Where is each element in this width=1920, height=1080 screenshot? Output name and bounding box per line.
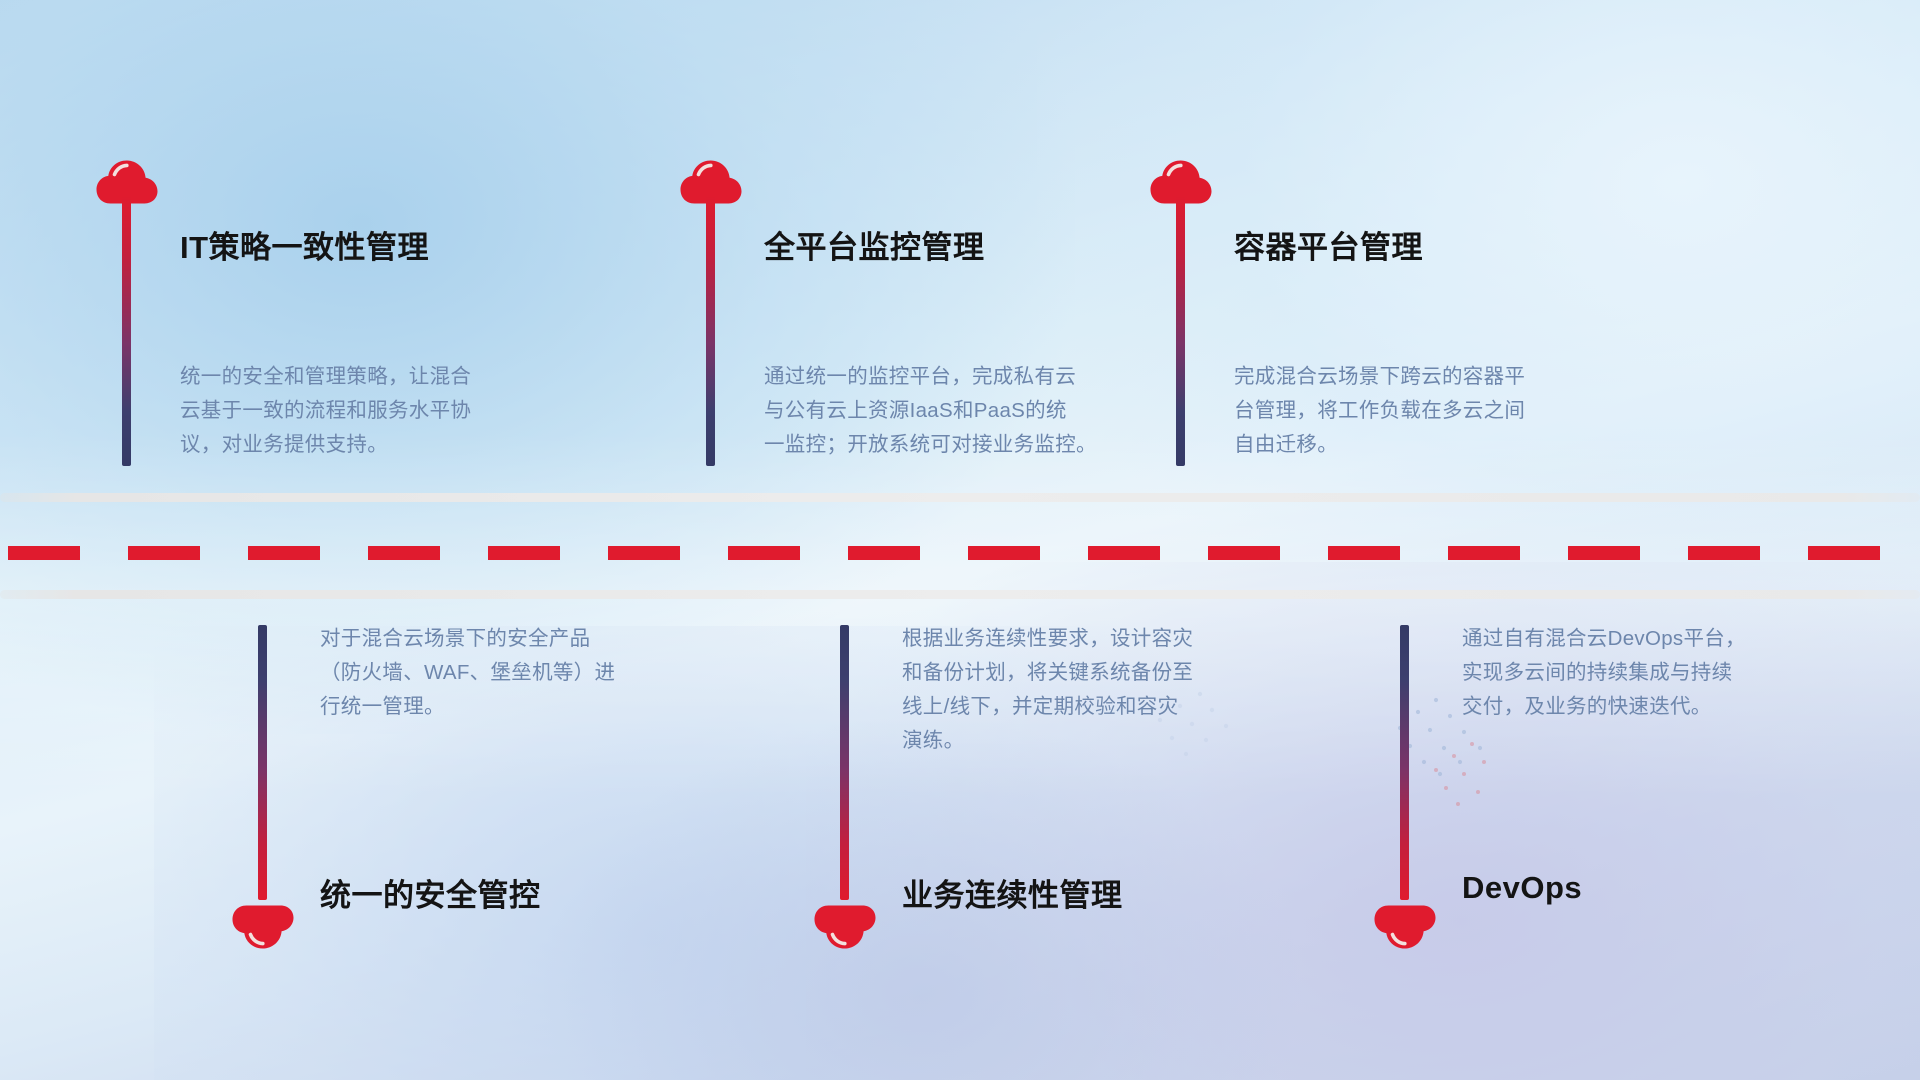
top-item-3-body: 完成混合云场景下跨云的容器平 台管理，将工作负载在多云之间 自由迁移。 [1234,360,1674,462]
timeline-stem [258,625,267,900]
timeline-stem [840,625,849,900]
top-item-3[interactable]: 容器平台管理 完成混合云场景下跨云的容器平 台管理，将工作负载在多云之间 自由迁… [1032,0,1732,490]
timeline-stem [1400,625,1409,900]
cloud-icon [232,905,294,949]
bottom-item-3[interactable]: 通过自有混合云DevOps平台， 实现多云间的持续集成与持续 交付，及业务的快速… [1080,600,1780,1000]
timeline-stem [1176,196,1185,466]
top-item-1[interactable]: IT策略一致性管理 统一的安全和管理策略，让混合 云基于一致的流程和服务水平协 … [0,0,640,490]
bottom-item-1-title: 统一的安全管控 [320,870,541,915]
road-edge-bottom [0,590,1920,599]
timeline-stem [706,196,715,466]
top-item-1-title: IT策略一致性管理 [180,222,429,267]
bottom-item-3-title: DevOps [1462,870,1582,906]
cloud-icon [814,905,876,949]
timeline-stem [122,196,131,466]
top-item-2-title: 全平台监控管理 [764,222,985,267]
road-center-dashes [0,546,1920,560]
bottom-item-3-body: 通过自有混合云DevOps平台， 实现多云间的持续集成与持续 交付，及业务的快速… [1462,622,1882,724]
top-item-1-body: 统一的安全和管理策略，让混合 云基于一致的流程和服务水平协 议，对业务提供支持。 [180,360,610,462]
road-edge-top [0,493,1920,502]
cloud-icon [1374,905,1436,949]
top-item-3-title: 容器平台管理 [1234,222,1423,267]
